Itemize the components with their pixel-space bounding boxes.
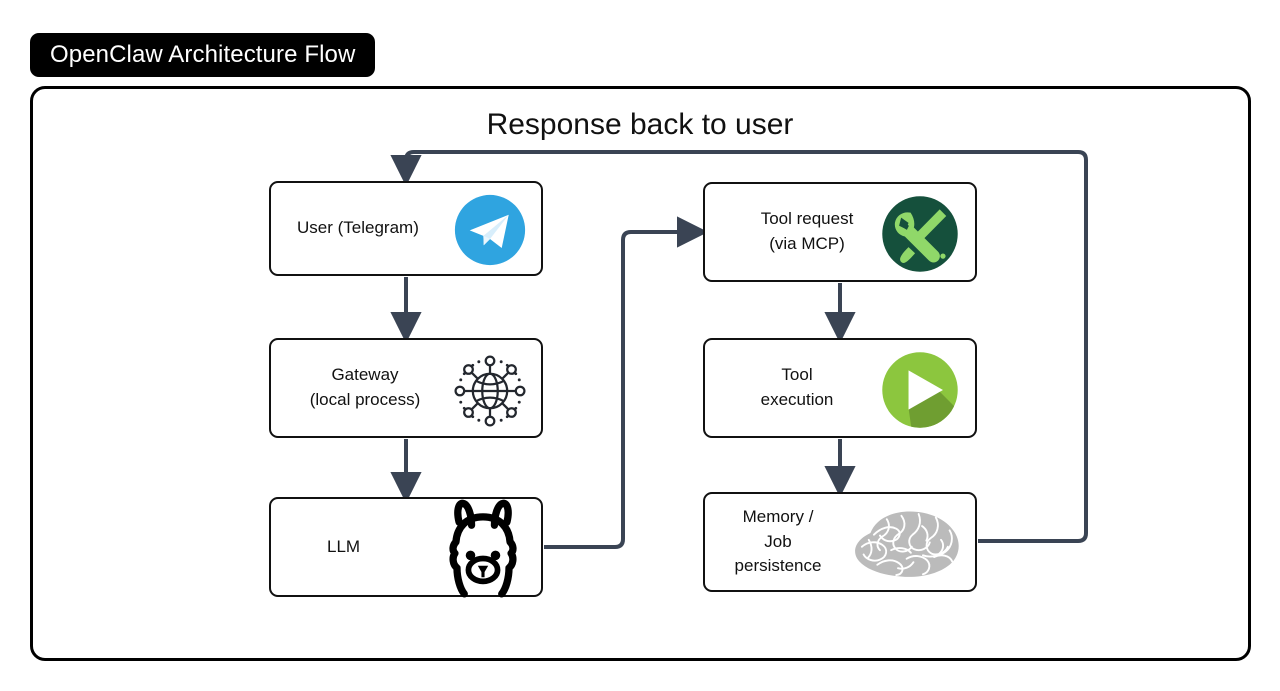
- brain-icon: [839, 502, 969, 588]
- tools-icon: [879, 193, 961, 275]
- node-user-telegram-label: User (Telegram): [297, 216, 419, 241]
- node-user-telegram[interactable]: User (Telegram): [269, 181, 543, 276]
- diagram-canvas: OpenClaw Architecture Flow Response back…: [0, 0, 1280, 691]
- diagram-title-text: OpenClaw Architecture Flow: [50, 43, 355, 67]
- node-tool-request-label: Tool request (via MCP): [737, 207, 877, 256]
- node-llm[interactable]: LLM: [269, 497, 543, 597]
- network-globe-icon: [447, 348, 533, 434]
- diagram-title-badge: OpenClaw Architecture Flow: [30, 33, 375, 77]
- node-tool-execution-label: Tool execution: [737, 363, 857, 412]
- node-gateway-label: Gateway (local process): [295, 363, 435, 412]
- node-memory-job-persistence-label: Memory / Job persistence: [713, 505, 843, 579]
- play-icon: [879, 349, 961, 431]
- node-tool-request[interactable]: Tool request (via MCP): [703, 182, 977, 282]
- diagram-frame: [30, 86, 1251, 661]
- node-gateway[interactable]: Gateway (local process): [269, 338, 543, 438]
- telegram-icon: [451, 191, 529, 269]
- node-tool-execution[interactable]: Tool execution: [703, 338, 977, 438]
- node-llm-label: LLM: [327, 535, 360, 560]
- node-memory-job-persistence[interactable]: Memory / Job persistence: [703, 492, 977, 592]
- llama-icon: [431, 493, 535, 597]
